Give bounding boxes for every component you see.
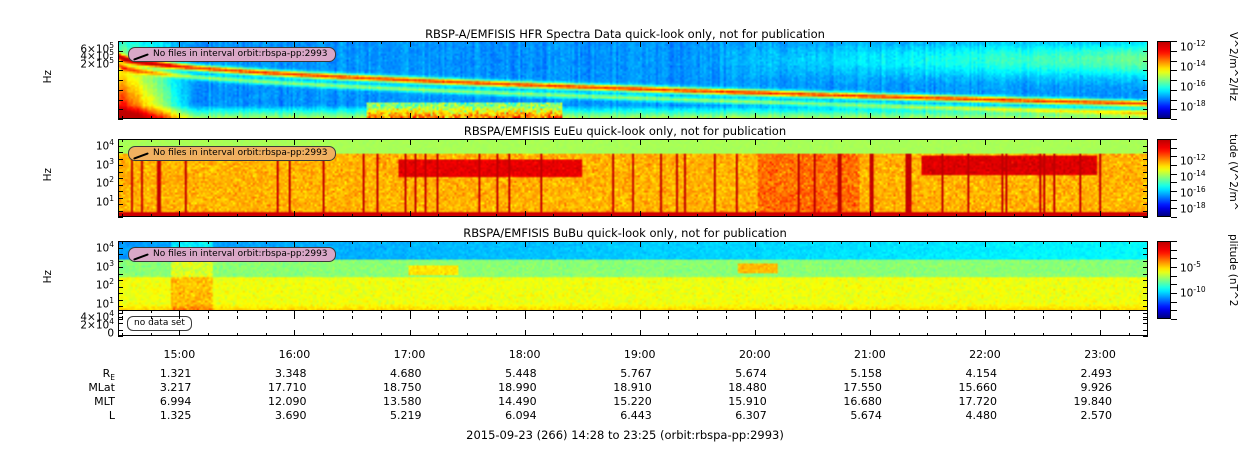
axis-tick [1143,241,1148,242]
axis-tick [870,211,871,217]
axis-tick [668,241,669,244]
axis-tick [352,333,353,336]
axis-tick [985,139,986,145]
axis-tick [118,119,123,120]
axis-tick [784,41,785,44]
axis-tick [1129,316,1130,319]
axis-tick [582,139,583,142]
axis-tick [870,310,871,316]
axis-tick [237,316,238,319]
axis-tick [1043,214,1044,217]
axis-tick [208,139,209,142]
axis-tick [841,139,842,142]
axis-tick [118,159,123,160]
colorbar-tick [1171,100,1177,101]
axis-tick [118,178,123,179]
axis-tick [266,139,267,142]
axis-tick [812,241,813,244]
axis-tick [438,316,439,319]
axis-tick [755,241,756,247]
axis-tick [553,333,554,336]
axis-tick [410,139,411,145]
axis-tick [899,41,900,44]
panel-1-colorbar [1157,41,1171,119]
axis-tick [496,310,497,313]
axis-tick [151,214,152,217]
axis-tick [553,41,554,44]
axis-tick [956,316,957,319]
table-cell: 9.926 [1032,381,1112,394]
colorbar-tick [1171,276,1177,277]
panel-4-ytick-2: 0 [56,325,114,339]
axis-tick [179,330,180,336]
axis-tick [1143,319,1148,320]
axis-tick [956,41,957,44]
axis-tick [496,41,497,44]
axis-tick [410,211,411,217]
table-cell: 3.348 [226,367,306,380]
axis-tick [381,241,382,244]
axis-tick [118,211,123,212]
axis-tick [726,41,727,44]
axis-tick [525,310,526,316]
table-cell: 4.154 [917,367,997,380]
axis-tick [118,41,123,42]
axis-tick [525,330,526,336]
table-cell: 15.910 [687,395,767,408]
axis-tick [640,330,641,336]
figure-caption: 2015-09-23 (266) 14:28 to 23:25 (orbit:r… [0,428,1250,442]
axis-tick [1043,139,1044,142]
x-tick-label: 18:00 [490,348,560,361]
axis-tick [985,113,986,119]
axis-tick [1129,214,1130,217]
axis-tick [118,254,123,255]
axis-tick [179,139,180,145]
table-row-label: RE [20,367,115,382]
axis-tick [1129,310,1130,313]
panel-3-axis-name: Hz [42,270,54,283]
axis-tick [1143,274,1148,275]
axis-tick [1143,80,1148,81]
axis-tick [1143,280,1148,281]
panel-2-cbtick-0: 10-12 [1180,152,1206,168]
axis-tick [118,61,123,62]
axis-tick [381,310,382,313]
axis-tick [985,241,986,247]
panel-3-ytick-0: 104 [56,240,114,254]
axis-tick [1143,191,1148,192]
axis-tick [1143,293,1148,294]
table-cell: 5.448 [457,367,537,380]
axis-tick [381,214,382,217]
axis-tick [381,116,382,119]
axis-tick [323,139,324,142]
axis-tick [841,214,842,217]
axis-tick [118,241,123,242]
axis-tick [525,211,526,217]
axis-tick [438,310,439,313]
table-cell: 18.990 [457,381,537,394]
axis-tick [1100,330,1101,336]
axis-tick [266,310,267,313]
axis-tick [352,41,353,44]
colorbar-tick [1171,80,1177,81]
axis-tick [668,214,669,217]
axis-tick [208,41,209,44]
axis-tick [1071,139,1072,142]
axis-tick [1043,241,1044,244]
colorbar-tick [1171,200,1177,201]
panel-2-ytick-3: 101 [56,194,114,208]
axis-tick [118,293,123,294]
axis-tick [208,316,209,319]
axis-tick [1071,241,1072,244]
colorbar-tick [1171,174,1177,175]
axis-tick [755,330,756,336]
axis-tick [1143,306,1148,307]
table-row-label: L [20,409,115,422]
axis-tick [1143,70,1148,71]
panel-1-axis-name: Hz [42,70,54,83]
axis-tick [899,333,900,336]
axis-tick [927,241,928,244]
colorbar-tick [1171,293,1177,294]
axis-tick [1143,139,1148,140]
axis-tick [266,116,267,119]
axis-tick [927,139,928,142]
axis-tick [1143,172,1148,173]
panel-1-colorbar-label: V^2/m^2/Hz [1227,32,1239,101]
axis-tick [237,116,238,119]
axis-tick [899,316,900,319]
panel-2-ytick-0: 104 [56,138,114,152]
axis-tick [467,310,468,313]
panel-2-colorbar [1157,139,1171,217]
axis-tick [870,41,871,47]
table-cell: 5.767 [572,367,652,380]
panel-1-cbtick-3: 10-18 [1180,98,1206,114]
axis-tick [1014,41,1015,44]
axis-tick [1100,211,1101,217]
axis-tick [697,214,698,217]
table-cell: 14.490 [457,395,537,408]
axis-tick [1143,51,1148,52]
axis-tick [726,139,727,142]
axis-tick [956,116,957,119]
axis-tick [1100,41,1101,47]
axis-tick [352,310,353,313]
colorbar-tick [1171,70,1177,71]
axis-tick [1143,261,1148,262]
axis-tick [266,333,267,336]
colorbar-tick [1171,156,1177,157]
axis-tick [611,41,612,44]
axis-tick [985,211,986,217]
axis-tick [118,185,123,186]
axis-tick [870,330,871,336]
axis-tick [1071,41,1072,44]
axis-tick [294,310,295,316]
axis-tick [352,316,353,319]
colorbar-tick [1171,267,1177,268]
axis-tick [118,165,123,166]
axis-tick [151,116,152,119]
axis-tick [755,113,756,119]
table-cell: 17.550 [802,381,882,394]
axis-tick [525,41,526,47]
axis-tick [582,214,583,217]
axis-tick [467,316,468,319]
axis-tick [525,139,526,145]
axis-tick [410,241,411,247]
axis-tick [697,41,698,44]
panel-2-title: RBSPA/EMFISIS EuEu quick-look only, not … [0,124,1250,138]
axis-tick [640,113,641,119]
axis-tick [1143,90,1148,91]
axis-tick [266,316,267,319]
colorbar-tick [1171,208,1177,209]
axis-tick [118,306,123,307]
table-cell: 2.493 [1032,367,1112,380]
axis-tick [870,241,871,247]
panel-3-ytick-1: 103 [56,259,114,273]
x-tick-label: 15:00 [144,348,214,361]
axis-tick [784,316,785,319]
no-files-icon [133,251,149,259]
axis-tick [496,333,497,336]
axis-tick [208,241,209,244]
x-tick-label: 23:00 [1065,348,1135,361]
axis-tick [726,316,727,319]
colorbar-tick [1171,109,1177,110]
colorbar-tick [1171,284,1177,285]
axis-tick [1129,116,1130,119]
axis-tick [118,139,123,140]
axis-tick [927,214,928,217]
axis-tick [323,310,324,313]
axis-tick [1014,116,1015,119]
colorbar-tick [1171,310,1177,311]
panel-2-axis-name: Hz [42,168,54,181]
axis-tick [496,241,497,244]
x-tick-label: 19:00 [605,348,675,361]
axis-tick [118,172,123,173]
axis-tick [755,310,756,316]
axis-tick [118,261,123,262]
axis-tick [381,139,382,142]
colorbar-tick [1171,90,1177,91]
axis-tick [553,214,554,217]
axis-tick [1143,41,1148,42]
table-cell: 4.480 [917,409,997,422]
axis-tick [812,214,813,217]
colorbar-tick [1171,61,1177,62]
axis-tick [985,41,986,47]
axis-tick [1143,152,1148,153]
axis-tick [467,139,468,142]
axis-tick [118,330,123,331]
colorbar-tick [1171,165,1177,166]
axis-tick [467,41,468,44]
panel-2-ytick-2: 102 [56,175,114,189]
axis-tick [208,333,209,336]
axis-tick [899,139,900,142]
axis-tick [438,139,439,142]
table-cell: 13.580 [342,395,422,408]
axis-tick [118,204,123,205]
axis-tick [179,41,180,47]
axis-tick [841,241,842,244]
axis-tick [237,214,238,217]
axis-tick [118,310,123,311]
axis-tick [438,41,439,44]
axis-tick [118,152,123,153]
axis-tick [640,241,641,247]
axis-tick [1071,116,1072,119]
axis-tick [956,241,957,244]
axis-tick [841,116,842,119]
axis-tick [640,139,641,145]
panel-2-ytick-1: 103 [56,157,114,171]
axis-tick [410,113,411,119]
axis-tick [1143,100,1148,101]
panel-3-colorbar [1157,241,1171,319]
axis-tick [812,316,813,319]
axis-tick [323,116,324,119]
panel-4-plot[interactable] [118,310,1148,336]
axis-tick [582,316,583,319]
axis-tick [697,333,698,336]
axis-tick [1014,139,1015,142]
axis-tick [118,70,123,71]
x-tick-label: 20:00 [720,348,790,361]
axis-tick [582,241,583,244]
axis-tick [118,198,123,199]
axis-tick [438,116,439,119]
axis-tick [927,333,928,336]
axis-tick [1014,333,1015,336]
table-row-label: MLat [20,381,115,394]
panel-1-cbtick-0: 10-12 [1180,38,1206,54]
axis-tick [151,316,152,319]
axis-tick [410,41,411,47]
axis-tick [726,333,727,336]
axis-tick [640,41,641,47]
axis-tick [1143,287,1148,288]
panel-1-annotation: No files in interval orbit:rbspa-pp:2993 [128,47,336,62]
table-cell: 6.094 [457,409,537,422]
axis-tick [927,310,928,313]
colorbar-tick [1171,41,1177,42]
axis-tick [553,310,554,313]
axis-tick [956,139,957,142]
colorbar-tick [1171,139,1177,140]
colorbar-tick [1171,191,1177,192]
panel-3-cbtick-0: 10-5 [1180,259,1201,275]
panel-2-annotation-label: No files in interval orbit:rbspa-pp:2993 [153,148,328,159]
axis-tick [118,287,123,288]
panel-2-annotation: No files in interval orbit:rbspa-pp:2993 [128,146,336,161]
axis-tick [927,316,928,319]
axis-tick [956,310,957,313]
axis-tick [611,241,612,244]
axis-tick [1043,310,1044,313]
axis-tick [668,310,669,313]
axis-tick [668,41,669,44]
axis-tick [668,333,669,336]
no-files-icon [133,150,149,158]
axis-tick [118,319,123,320]
axis-tick [668,139,669,142]
axis-tick [582,333,583,336]
axis-tick [118,317,123,318]
axis-tick [812,139,813,142]
axis-tick [294,211,295,217]
axis-tick [1129,139,1130,142]
axis-tick [1143,198,1148,199]
axis-tick [1143,109,1148,110]
axis-tick [208,310,209,313]
axis-tick [496,139,497,142]
axis-tick [784,310,785,313]
panel-3-ytick-2: 102 [56,277,114,291]
table-cell: 1.321 [111,367,191,380]
panel-4-annotation-label: no data set [134,318,185,329]
axis-tick [1143,300,1148,301]
axis-tick [899,241,900,244]
no-files-icon [133,51,149,59]
axis-tick [870,139,871,145]
table-cell: 16.680 [802,395,882,408]
axis-tick [553,241,554,244]
axis-tick [1043,116,1044,119]
axis-tick [611,316,612,319]
axis-tick [1100,113,1101,119]
axis-tick [784,139,785,142]
table-cell: 12.090 [226,395,306,408]
axis-tick [1143,159,1148,160]
axis-tick [118,300,123,301]
axis-tick [640,310,641,316]
axis-tick [118,267,123,268]
axis-tick [323,41,324,44]
axis-tick [118,100,123,101]
axis-tick [525,241,526,247]
axis-tick [1043,41,1044,44]
axis-tick [1014,241,1015,244]
axis-tick [841,310,842,313]
axis-tick [1143,330,1148,331]
colorbar-tick [1171,119,1177,120]
table-cell: 4.680 [342,367,422,380]
axis-tick [841,333,842,336]
axis-tick [237,241,238,244]
colorbar-tick [1171,241,1177,242]
axis-tick [237,139,238,142]
axis-tick [870,113,871,119]
axis-tick [496,316,497,319]
axis-tick [553,116,554,119]
axis-tick [266,214,267,217]
table-cell: 6.307 [687,409,767,422]
axis-tick [151,41,152,44]
axis-tick [611,139,612,142]
axis-tick [611,116,612,119]
axis-tick [899,310,900,313]
axis-tick [956,214,957,217]
axis-tick [118,248,123,249]
